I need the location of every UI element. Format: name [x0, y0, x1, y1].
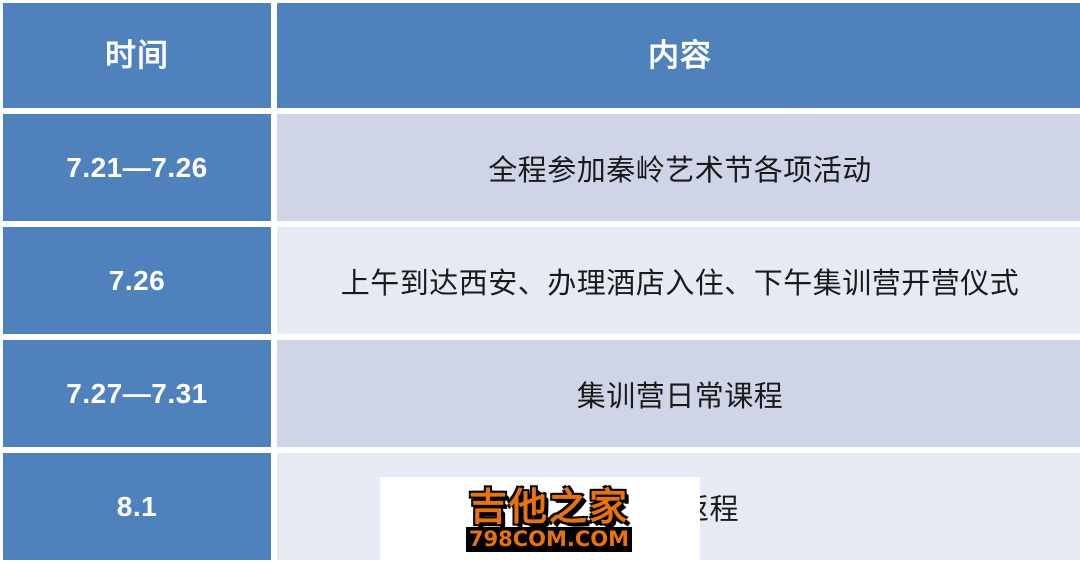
- table-row-content: 全程参加秦岭艺术节各项活动: [277, 114, 1080, 221]
- table-header-label-content: 内容: [648, 40, 712, 71]
- schedule-table: 时间 内容 7.21—7.26 全程参加秦岭艺术节各项活动 7.26: [0, 0, 1080, 563]
- table-row: 7.21—7.26: [3, 114, 271, 221]
- watermark-overlay: 吉他之家 798COM.COM: [380, 477, 700, 563]
- table-row: 7.26: [3, 227, 271, 334]
- cell-content-value: 集训营日常课程: [577, 373, 784, 415]
- cell-time-value: 7.21—7.26: [66, 152, 208, 184]
- table-header-cell-time: 时间: [3, 3, 271, 108]
- table-row: 8.1: [3, 453, 271, 560]
- cell-time-value: 7.26: [109, 265, 166, 297]
- watermark-title: 吉他之家: [469, 488, 629, 526]
- cell-content-value: 上午到达西安、办理酒店入住、下午集训营开营仪式: [341, 260, 1020, 302]
- table-row: 7.27—7.31: [3, 340, 271, 447]
- table-row-content: 上午到达西安、办理酒店入住、下午集训营开营仪式: [277, 227, 1080, 334]
- cell-time-value: 7.27—7.31: [66, 378, 208, 410]
- table-header-label-time: 时间: [105, 40, 169, 71]
- watermark-url: 798COM.COM: [466, 527, 632, 553]
- cell-content-value: 全程参加秦岭艺术节各项活动: [488, 147, 872, 189]
- watermark-content: 吉他之家 798COM.COM: [380, 477, 700, 563]
- table-row-content: 集训营日常课程: [277, 340, 1080, 447]
- table-header-cell-content: 内容: [277, 3, 1080, 108]
- cell-time-value: 8.1: [117, 491, 157, 523]
